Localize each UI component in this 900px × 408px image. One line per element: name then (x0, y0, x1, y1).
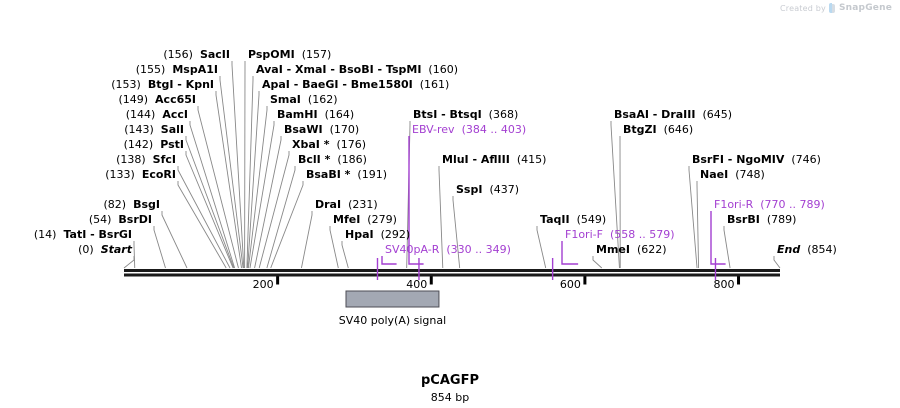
site-label-bsawi[interactable]: BsaWI (170) (284, 124, 359, 135)
site-position: (156) (163, 48, 193, 61)
site-label-smai[interactable]: SmaI (162) (270, 94, 338, 105)
label-spacer (318, 108, 325, 121)
site-position: (162) (308, 93, 338, 106)
site-position: (161) (420, 78, 450, 91)
site-position: (153) (111, 78, 141, 91)
site-name: BtgZI (623, 123, 657, 136)
site-name: HpaI (345, 228, 374, 241)
site-leader (216, 91, 242, 268)
site-position: (622) (637, 243, 667, 256)
site-position: (133) (105, 168, 135, 181)
site-name: Start (101, 243, 132, 256)
site-position: (415) (517, 153, 547, 166)
site-position: (138) (116, 153, 146, 166)
site-name: TatI - BsrGI (63, 228, 132, 241)
label-spacer (146, 153, 153, 166)
site-name: BclI * (298, 153, 330, 166)
site-position: (143) (124, 123, 154, 136)
site-position: (748) (735, 168, 765, 181)
site-position: (437) (489, 183, 519, 196)
site-position: (144) (126, 108, 156, 121)
site-position: (14) (34, 228, 57, 241)
site-label-start[interactable]: (0) Start (78, 244, 132, 255)
label-spacer (374, 228, 381, 241)
site-name: BsrFI - NgoMIV (692, 153, 784, 166)
site-label-acc65i[interactable]: (149) Acc65I (118, 94, 196, 105)
ruler-tick (737, 277, 740, 285)
site-name: PspOMI (248, 48, 295, 61)
site-label-drai[interactable]: DraI (231) (315, 199, 378, 210)
site-leader (186, 151, 233, 268)
ruler-tick-label: 400 (406, 278, 427, 291)
site-position: (368) (489, 108, 519, 121)
site-leader (774, 256, 780, 268)
site-name: Acc65I (155, 93, 196, 106)
site-name: MfeI (333, 213, 360, 226)
site-name: EBV-rev (412, 123, 455, 136)
label-spacer (760, 213, 767, 226)
label-spacer (148, 93, 155, 106)
site-leader (453, 196, 460, 268)
site-name: SV40pA-R (385, 243, 439, 256)
site-name: BsrBI (727, 213, 760, 226)
site-name: BamHI (277, 108, 318, 121)
site-position: (155) (136, 63, 166, 76)
feature-1[interactable] (346, 291, 439, 307)
site-label-ebvrev[interactable]: EBV-rev (384 .. 403) (412, 124, 526, 135)
site-label-btsi[interactable]: BtsI - BtsqI (368) (413, 109, 518, 120)
site-label-mlui[interactable]: MluI - AflIII (415) (442, 154, 546, 165)
label-spacer (603, 228, 610, 241)
site-position: (160) (428, 63, 458, 76)
primer-brackets (377, 136, 725, 280)
site-label-bsaai[interactable]: BsaAI - DraIII (645) (614, 109, 732, 120)
ruler-ticks (276, 277, 740, 285)
site-label-apai[interactable]: ApaI - BaeGI - Bme1580I (161) (262, 79, 449, 90)
site-name: SfcI (153, 153, 176, 166)
site-position: (186) (337, 153, 367, 166)
site-leader (154, 226, 165, 268)
site-name: SspI (456, 183, 482, 196)
label-spacer (510, 153, 517, 166)
label-spacer (657, 123, 664, 136)
sequence-axis (124, 269, 780, 277)
site-label-end[interactable]: End (854) (777, 244, 837, 255)
site-label-mmei[interactable]: MmeI (622) (596, 244, 667, 255)
site-leader (162, 211, 187, 268)
label-spacer (413, 78, 420, 91)
site-leader (689, 166, 697, 268)
site-position: (191) (357, 168, 387, 181)
site-position: (384 .. 403) (462, 123, 527, 136)
label-spacer (455, 123, 462, 136)
site-name: SacII (200, 48, 230, 61)
site-label-bsrfi[interactable]: BsrFI - NgoMIV (746) (692, 154, 821, 165)
site-leader (198, 106, 238, 268)
label-spacer (154, 123, 161, 136)
site-label-acci[interactable]: (144) AccI (126, 109, 188, 120)
site-position: (549) (577, 213, 607, 226)
site-label-naei[interactable]: NaeI (748) (700, 169, 765, 180)
site-label-sacii[interactable]: (156) SacII (163, 49, 230, 60)
site-position: (157) (302, 48, 332, 61)
site-leader (178, 166, 230, 268)
site-label-bsgi[interactable]: (82) BsgI (104, 199, 161, 210)
site-label-bamhi[interactable]: BamHI (164) (277, 109, 354, 120)
site-position: (558 .. 579) (610, 228, 675, 241)
label-spacer (193, 48, 200, 61)
site-name: NaeI (700, 168, 728, 181)
site-name: ApaI - BaeGI - Bme1580I (262, 78, 413, 91)
site-position: (854) (807, 243, 837, 256)
site-position: (746) (791, 153, 821, 166)
site-name: BsaAI - DraIII (614, 108, 695, 121)
site-position: (142) (124, 138, 154, 151)
site-leader (259, 151, 289, 268)
site-name: EcoRI (142, 168, 176, 181)
site-label-btgzi[interactable]: BtgZI (646) (623, 124, 693, 135)
site-leader (537, 226, 546, 268)
site-position: (149) (118, 93, 148, 106)
label-spacer (295, 48, 302, 61)
site-name: SalI (161, 123, 184, 136)
site-name: AccI (162, 108, 188, 121)
site-position: (54) (89, 213, 112, 226)
site-leader (724, 226, 730, 268)
ruler-tick-label: 200 (253, 278, 274, 291)
site-label-taqii[interactable]: TaqII (549) (540, 214, 606, 225)
site-label-hpai[interactable]: HpaI (292) (345, 229, 410, 240)
primer-leader (562, 241, 578, 264)
site-name: PstI (160, 138, 184, 151)
ruler-tick (430, 277, 433, 285)
site-label-bsrbi[interactable]: BsrBI (789) (727, 214, 796, 225)
ruler-tick-label: 600 (560, 278, 581, 291)
site-leader (697, 181, 699, 268)
ruler-tick (276, 277, 279, 285)
site-label-mfei[interactable]: MfeI (279) (333, 214, 397, 225)
site-position: (789) (767, 213, 797, 226)
site-position: (82) (104, 198, 127, 211)
site-label-btgi[interactable]: (153) BtgI - KpnI (111, 79, 214, 90)
site-leader (134, 241, 135, 268)
site-position: (0) (78, 243, 94, 256)
label-spacer (630, 243, 637, 256)
site-label-bcli[interactable]: BclI * (186) (298, 154, 367, 165)
site-leader (593, 256, 602, 268)
site-label-sspi[interactable]: SspI (437) (456, 184, 519, 195)
site-name: TaqII (540, 213, 570, 226)
plasmid-length-value: 854 bp (431, 391, 469, 404)
site-position: (330 .. 349) (446, 243, 511, 256)
site-leader (271, 181, 303, 268)
site-leader (124, 256, 134, 268)
site-label-ecori[interactable]: (133) EcoRI (105, 169, 176, 180)
site-position: (292) (381, 228, 411, 241)
label-spacer (141, 78, 148, 91)
label-spacer (323, 123, 330, 136)
site-leader (342, 241, 348, 268)
site-name: BsaWI (284, 123, 323, 136)
site-name: BsgI (133, 198, 160, 211)
site-position: (646) (664, 123, 694, 136)
site-position: (176) (336, 138, 366, 151)
plasmid-length: 854 bp (0, 386, 900, 405)
site-name: End (777, 243, 800, 256)
site-name: BtsI - BtsqI (413, 108, 482, 121)
site-name: AvaI - XmaI - BsoBI - TspMI (256, 63, 421, 76)
site-label-f1orif[interactable]: F1ori-F (558 .. 579) (565, 229, 675, 240)
ruler-tick (583, 277, 586, 285)
site-label-bsabi[interactable]: BsaBI * (191) (306, 169, 387, 180)
site-name: DraI (315, 198, 341, 211)
site-label-mspa1i[interactable]: (155) MspA1I (136, 64, 218, 75)
site-label-xbai[interactable]: XbaI * (176) (292, 139, 366, 150)
site-name: MluI - AflIII (442, 153, 510, 166)
site-label-f1orir[interactable]: F1ori-R (770 .. 789) (714, 199, 825, 210)
site-label-tati[interactable]: (14) TatI - BsrGI (34, 229, 132, 240)
site-label-sv40pa[interactable]: SV40pA-R (330 .. 349) (385, 244, 511, 255)
site-leader (250, 121, 274, 268)
site-name: F1ori-F (565, 228, 603, 241)
site-label-sfci[interactable]: (138) SfcI (116, 154, 176, 165)
site-name: F1ori-R (714, 198, 753, 211)
site-name: BsaBI * (306, 168, 350, 181)
primer-leader (382, 256, 397, 264)
site-label-sali[interactable]: (143) SalI (124, 124, 184, 135)
ruler-tick-label: 800 (714, 278, 735, 291)
site-leader (232, 61, 244, 268)
primer-leader (711, 211, 726, 264)
site-label-avai[interactable]: AvaI - XmaI - BsoBI - TspMI (160) (256, 64, 458, 75)
site-name: BtgI - KpnI (148, 78, 214, 91)
site-name: SmaI (270, 93, 301, 106)
site-name: MmeI (596, 243, 630, 256)
site-label-pspomi[interactable]: PspOMI (157) (248, 49, 331, 60)
site-name: XbaI * (292, 138, 329, 151)
site-position: (770 .. 789) (760, 198, 825, 211)
label-spacer (482, 108, 489, 121)
site-position: (164) (325, 108, 355, 121)
label-spacer (301, 93, 308, 106)
label-spacer (135, 168, 142, 181)
site-name: MspA1I (172, 63, 218, 76)
site-position: (279) (367, 213, 397, 226)
site-label-psti[interactable]: (142) PstI (124, 139, 184, 150)
plasmid-map: Created by SnapGene (14) TatI - BsrGI(0)… (0, 0, 900, 408)
site-leader (301, 211, 312, 268)
site-name: BsrDI (118, 213, 152, 226)
site-label-bsrdi[interactable]: (54) BsrDI (89, 214, 152, 225)
site-position: (645) (702, 108, 732, 121)
label-spacer (94, 243, 101, 256)
site-position: (170) (330, 123, 360, 136)
site-leader (330, 226, 338, 268)
feature-label: SV40 poly(A) signal (339, 314, 446, 327)
site-position: (231) (348, 198, 378, 211)
label-spacer (570, 213, 577, 226)
